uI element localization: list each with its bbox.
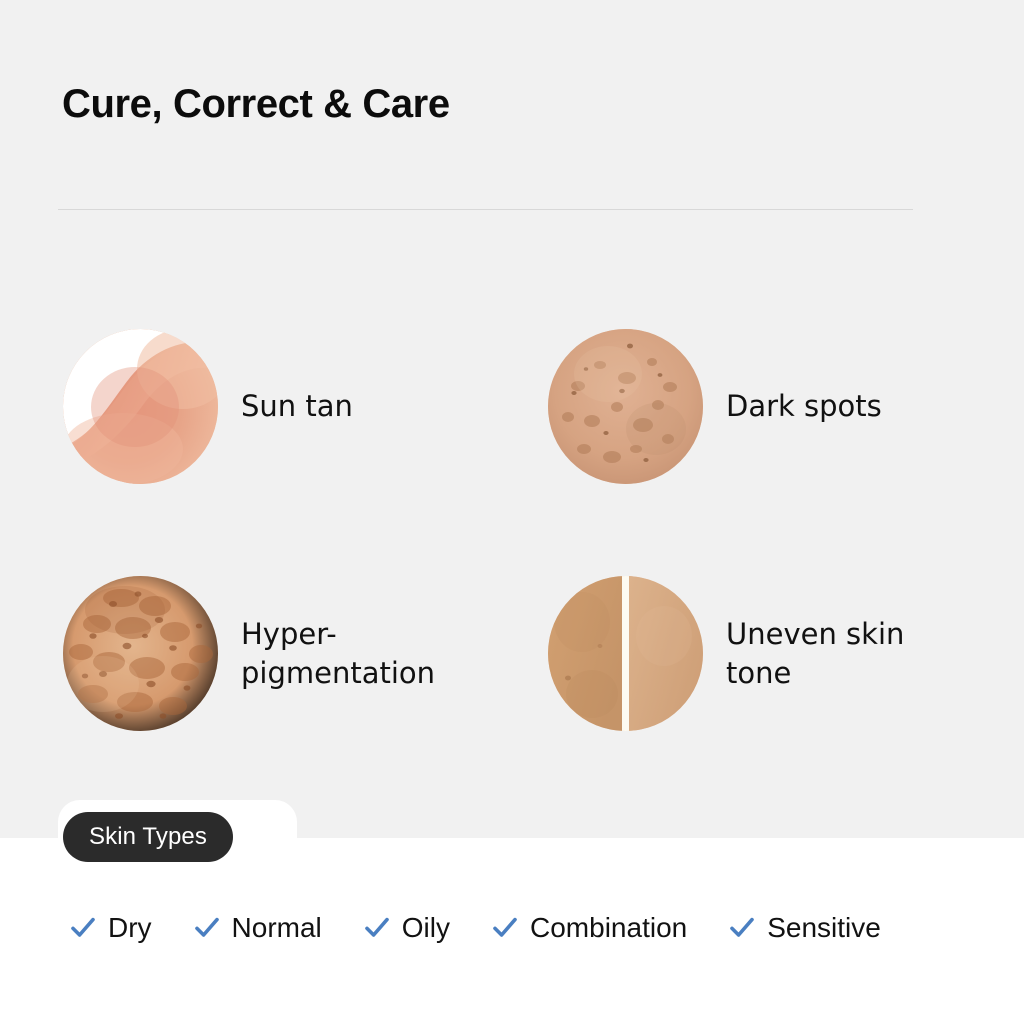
concern-label-line-1: Hyper-: [241, 617, 337, 651]
concern-label: Hyper- pigmentation: [241, 615, 435, 693]
check-icon: [492, 915, 518, 941]
concern-item-hyperpigmentation[interactable]: Hyper- pigmentation: [0, 530, 485, 777]
skin-type-item-sensitive[interactable]: Sensitive: [729, 912, 881, 944]
skin-type-label: Combination: [530, 912, 687, 944]
concern-item-sun-tan[interactable]: Sun tan: [0, 283, 485, 530]
concern-label-line-1: Uneven skin: [726, 617, 904, 651]
skin-type-label: Oily: [402, 912, 450, 944]
skin-concerns-grid: Sun tan: [0, 283, 1024, 777]
uneven-skin-tone-photo: [548, 576, 703, 731]
check-icon: [194, 915, 220, 941]
check-icon: [729, 915, 755, 941]
skin-type-label: Dry: [108, 912, 152, 944]
check-icon: [364, 915, 390, 941]
concern-item-dark-spots[interactable]: Dark spots: [485, 283, 970, 530]
concern-item-uneven-skin-tone[interactable]: Uneven skin tone: [485, 530, 970, 777]
page-title: Cure, Correct & Care: [62, 82, 450, 127]
check-icon: [70, 915, 96, 941]
dark-spots-skin-photo: [548, 329, 703, 484]
skin-type-item-dry[interactable]: Dry: [70, 912, 152, 944]
skin-types-badge[interactable]: Skin Types: [63, 812, 233, 862]
skin-type-label: Normal: [232, 912, 322, 944]
skin-types-list: Dry Normal Oily Comb: [70, 912, 1000, 944]
skin-type-item-oily[interactable]: Oily: [364, 912, 450, 944]
concern-label: Uneven skin tone: [726, 615, 904, 693]
header-divider: [58, 209, 913, 210]
concern-label-line-2: tone: [726, 656, 791, 690]
skin-type-label: Sensitive: [767, 912, 881, 944]
skin-concerns-row-2: Hyper- pigmentation: [0, 530, 1024, 777]
concern-label: Sun tan: [241, 387, 353, 426]
hyperpigmentation-skin-photo: [63, 576, 218, 731]
sun-tan-skin-photo: [63, 329, 218, 484]
concern-label: Dark spots: [726, 387, 882, 426]
skin-type-item-normal[interactable]: Normal: [194, 912, 322, 944]
concern-label-line-2: pigmentation: [241, 656, 435, 690]
skin-concerns-row-1: Sun tan: [0, 283, 1024, 530]
product-feature-card: Cure, Correct & Care: [0, 0, 1024, 1025]
skin-type-item-combination[interactable]: Combination: [492, 912, 687, 944]
